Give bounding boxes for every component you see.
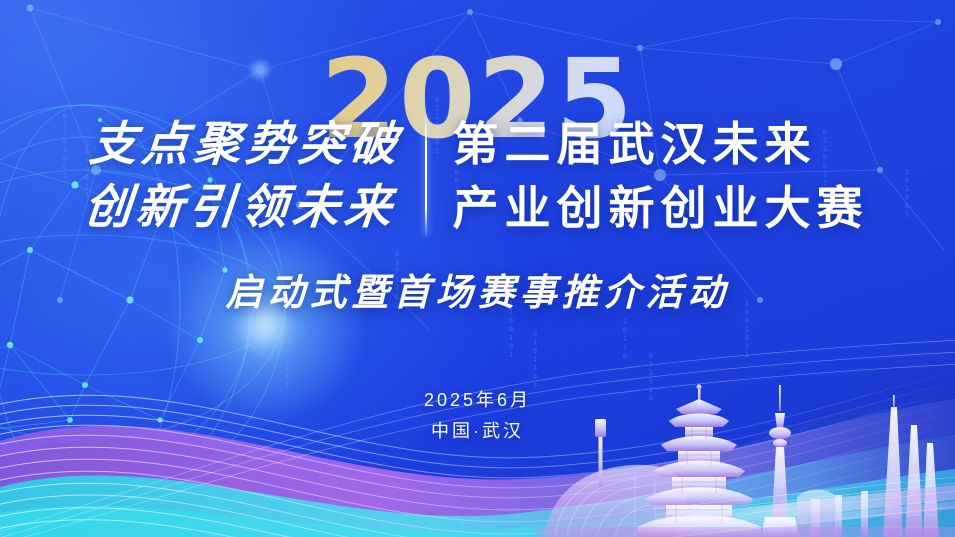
binary-code-column: 0101101 <box>530 330 539 390</box>
event-poster: 01101001 1010011 0110101 10010110 011001… <box>0 0 955 537</box>
event-location: 中国·武汉 <box>0 416 955 447</box>
event-main-title: 第二届武汉未来 产业创新创业大赛 <box>427 112 869 240</box>
binary-code-column: 0110101 <box>282 330 291 390</box>
slogan-line-1: 支点聚势突破 <box>87 113 405 176</box>
event-meta: 2025年6月 中国·武汉 <box>0 385 955 447</box>
main-title-line-1: 第二届武汉未来 <box>453 112 869 176</box>
event-subtitle: 启动式暨首场赛事推介活动 <box>0 262 955 316</box>
main-title-line-2: 产业创新创业大赛 <box>453 176 869 240</box>
binary-code-column: 10110 <box>620 318 629 361</box>
yangtze-bridge-shape <box>653 477 955 537</box>
slogan-line-2: 创新引领未来 <box>81 176 399 239</box>
event-slogan: 支点聚势突破 创新引领未来 <box>81 113 430 239</box>
event-date: 2025年6月 <box>0 385 955 416</box>
headline-block: 支点聚势突破 创新引领未来 第二届武汉未来 产业创新创业大赛 <box>0 112 955 240</box>
